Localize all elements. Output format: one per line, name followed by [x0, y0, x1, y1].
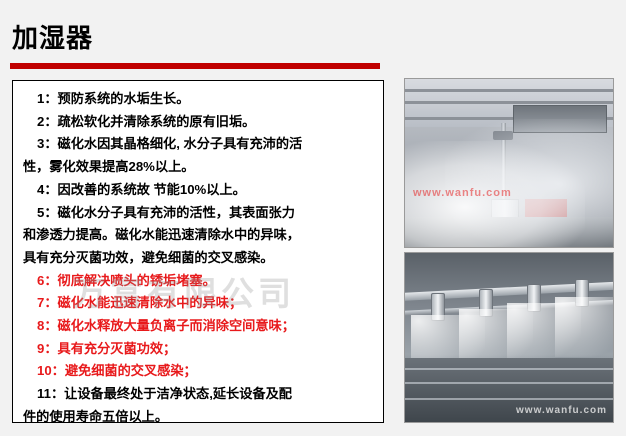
title-underline-rule — [10, 63, 380, 69]
slide-canvas: 加湿器 1：预防系统的水垢生长。2：疏松软化并清除系统的原有旧垢。3：磁化水因其… — [0, 0, 626, 436]
conveyor-slat — [405, 382, 613, 384]
conveyor-slat — [405, 398, 613, 400]
mist-plume — [555, 297, 614, 357]
body-line: 和渗透力提高。磁化水能迅速清除水中的异味， — [23, 224, 375, 247]
fog-cloud — [445, 119, 614, 248]
body-line: 性，雾化效果提高28%以上。 — [23, 156, 375, 179]
body-line: 11：让设备最终处于洁净状态,延长设备及配 — [23, 383, 375, 406]
body-line: 10：避免细菌的交叉感染； — [23, 360, 375, 383]
body-line: 9：具有充分灭菌功效； — [23, 338, 375, 361]
body-line: 件的使用寿命五倍以上。 — [23, 406, 375, 423]
body-line-list: 1：预防系统的水垢生长。2：疏松软化并清除系统的原有旧垢。3：磁化水因其晶格细化… — [13, 88, 383, 423]
body-line: 3：磁化水因其晶格细化, 水分子具有充沛的活 — [23, 133, 375, 156]
page-title: 加湿器 — [12, 24, 93, 53]
body-text-box: 1：预防系统的水垢生长。2：疏松软化并清除系统的原有旧垢。3：磁化水因其晶格细化… — [12, 80, 384, 423]
body-line: 6：彻底解决喷头的锈垢堵塞。 — [23, 270, 375, 293]
body-line: 5：磁化水分子具有充沛的活性，其表面张力 — [23, 202, 375, 225]
body-line: 4：因改善的系统故 节能10%以上。 — [23, 179, 375, 202]
body-line: 2：疏松软化并清除系统的原有旧垢。 — [23, 111, 375, 134]
humidifier-room-fog-photo: www.wanfu.com — [404, 78, 614, 248]
body-line: 7：磁化水能迅速清除水中的异味； — [23, 292, 375, 315]
body-line: 1：预防系统的水垢生长。 — [23, 88, 375, 111]
spray-nozzle-conveyor-photo: www.wanfu.com — [404, 252, 614, 423]
body-line: 8：磁化水释放大量负离子而消除空间意味； — [23, 315, 375, 338]
ceiling-beam-icon — [405, 101, 613, 104]
conveyor-slat — [405, 368, 613, 370]
watermark-photo-bottom: www.wanfu.com — [516, 405, 607, 416]
body-line: 具有充分灭菌功效，避免细菌的交叉感染。 — [23, 247, 375, 270]
ceiling-beam-icon — [405, 89, 613, 92]
watermark-photo-top: www.wanfu.com — [413, 187, 512, 199]
